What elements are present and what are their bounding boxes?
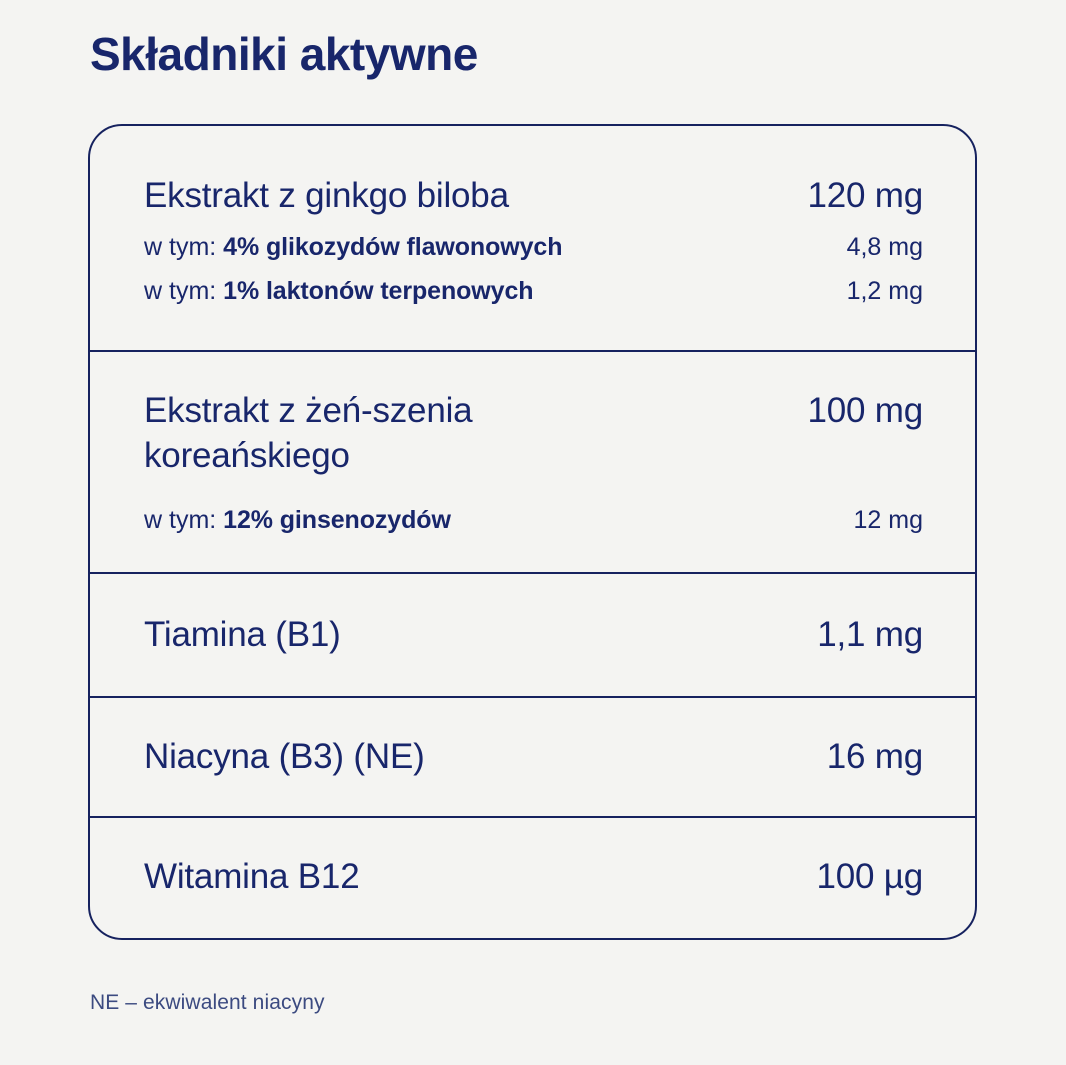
table-row: Niacyna (B3) (NE) 16 mg: [90, 696, 975, 816]
ingredient-sub-row: w tym: 12% ginsenozydów 12 mg: [144, 505, 923, 535]
sub-prefix: w tym:: [144, 506, 223, 534]
ingredient-label: Tiamina (B1): [144, 613, 801, 658]
sub-strong: 1% laktonów terpenowych: [223, 277, 533, 305]
ingredient-label: Ekstrakt z żeń-szenia koreańskiego: [144, 389, 604, 479]
table-row: Ekstrakt z ginkgo biloba 120 mg w tym: 4…: [90, 126, 975, 350]
ingredient-main-row: Ekstrakt z ginkgo biloba 120 mg: [144, 174, 923, 219]
ingredient-label: Niacyna (B3) (NE): [144, 735, 811, 780]
ingredient-value: 120 mg: [807, 174, 923, 219]
table-row: Ekstrakt z żeń-szenia koreańskiego 100 m…: [90, 350, 975, 572]
ingredient-value: 16 mg: [827, 735, 923, 780]
page-title: Składniki aktywne: [90, 28, 478, 81]
ingredient-label: Ekstrakt z ginkgo biloba: [144, 174, 791, 219]
active-ingredients-panel: Składniki aktywne Ekstrakt z ginkgo bilo…: [0, 0, 1066, 1065]
sub-prefix: w tym:: [144, 277, 223, 305]
ingredient-sub-label: w tym: 1% laktonów terpenowych: [144, 276, 831, 306]
ingredient-sub-label: w tym: 12% ginsenozydów: [144, 505, 838, 535]
ingredient-main-row: Niacyna (B3) (NE) 16 mg: [144, 735, 923, 780]
ingredient-sub-row: w tym: 4% glikozydów flawonowych 4,8 mg: [144, 232, 923, 262]
ingredient-value: 100 mg: [807, 389, 923, 434]
table-row: Witamina B12 100 µg: [90, 816, 975, 936]
ingredient-value: 1,1 mg: [817, 613, 923, 658]
ingredient-main-row: Witamina B12 100 µg: [144, 855, 923, 900]
ingredients-table: Ekstrakt z ginkgo biloba 120 mg w tym: 4…: [88, 124, 977, 940]
sub-strong: 4% glikozydów flawonowych: [223, 233, 562, 261]
ingredient-value: 100 µg: [816, 855, 923, 900]
ingredient-sub-value: 12 mg: [854, 505, 923, 535]
ingredient-sub-value: 4,8 mg: [847, 232, 923, 262]
ingredient-sub-label: w tym: 4% glikozydów flawonowych: [144, 232, 831, 262]
footnote: NE – ekwiwalent niacyny: [90, 991, 325, 1015]
sub-strong: 12% ginsenozydów: [223, 506, 451, 534]
ingredient-main-row: Tiamina (B1) 1,1 mg: [144, 613, 923, 658]
ingredient-sub-row: w tym: 1% laktonów terpenowych 1,2 mg: [144, 276, 923, 306]
table-row: Tiamina (B1) 1,1 mg: [90, 572, 975, 696]
ingredient-main-row: Ekstrakt z żeń-szenia koreańskiego 100 m…: [144, 389, 923, 479]
ingredient-sub-value: 1,2 mg: [847, 276, 923, 306]
ingredient-label: Witamina B12: [144, 855, 800, 900]
sub-prefix: w tym:: [144, 233, 223, 261]
